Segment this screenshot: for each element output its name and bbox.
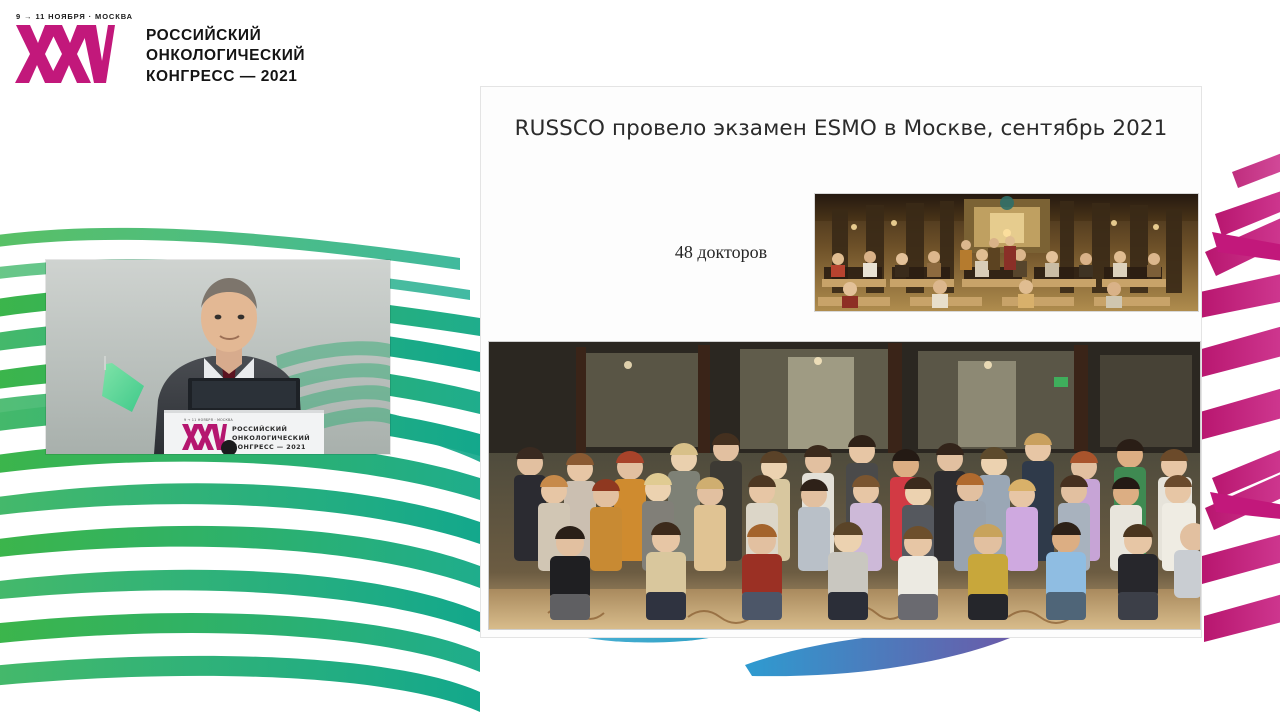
broadcast-stage: 9 → 11 НОЯБРЯ · МОСКВА РОССИЙСКИЙ ОНКОЛО… (0, 0, 1280, 720)
logo-wordmark: РОССИЙСКИЙ ОНКОЛОГИЧЕСКИЙ КОНГРЕСС — 202… (146, 26, 305, 87)
logo-mark-wrap: 9 → 11 НОЯБРЯ · МОСКВА (14, 12, 133, 83)
presentation-slide[interactable]: RUSSCO провело экзамен ESMO в Москве, се… (480, 86, 1202, 638)
xxv-roman-numeral-icon (14, 25, 116, 83)
svg-text:КОНГРЕСС — 2021: КОНГРЕСС — 2021 (232, 443, 306, 451)
group-photo (488, 341, 1201, 630)
speaker-video-inset[interactable]: 9 → 11 НОЯБРЯ · МОСКВА РОССИЙСКИЙ ОНКОЛО… (46, 260, 390, 454)
congress-logo: 9 → 11 НОЯБРЯ · МОСКВА РОССИЙСКИЙ ОНКОЛО… (14, 12, 305, 87)
svg-text:ОНКОЛОГИЧЕСКИЙ: ОНКОЛОГИЧЕСКИЙ (232, 433, 310, 442)
speaker-photo: 9 → 11 НОЯБРЯ · МОСКВА РОССИЙСКИЙ ОНКОЛО… (46, 260, 390, 454)
exam-hall-photo (814, 193, 1199, 312)
logo-dates-line: 9 → 11 НОЯБРЯ · МОСКВА (16, 12, 133, 21)
svg-text:9 → 11 НОЯБРЯ · МОСКВА: 9 → 11 НОЯБРЯ · МОСКВА (184, 418, 234, 422)
right-magenta-ribbons (1198, 150, 1280, 642)
slide-title: RUSSCO провело экзамен ESMO в Москве, се… (481, 116, 1201, 141)
slide-caption-doctors-count: 48 докторов (611, 242, 831, 263)
svg-text:РОССИЙСКИЙ: РОССИЙСКИЙ (232, 424, 287, 433)
